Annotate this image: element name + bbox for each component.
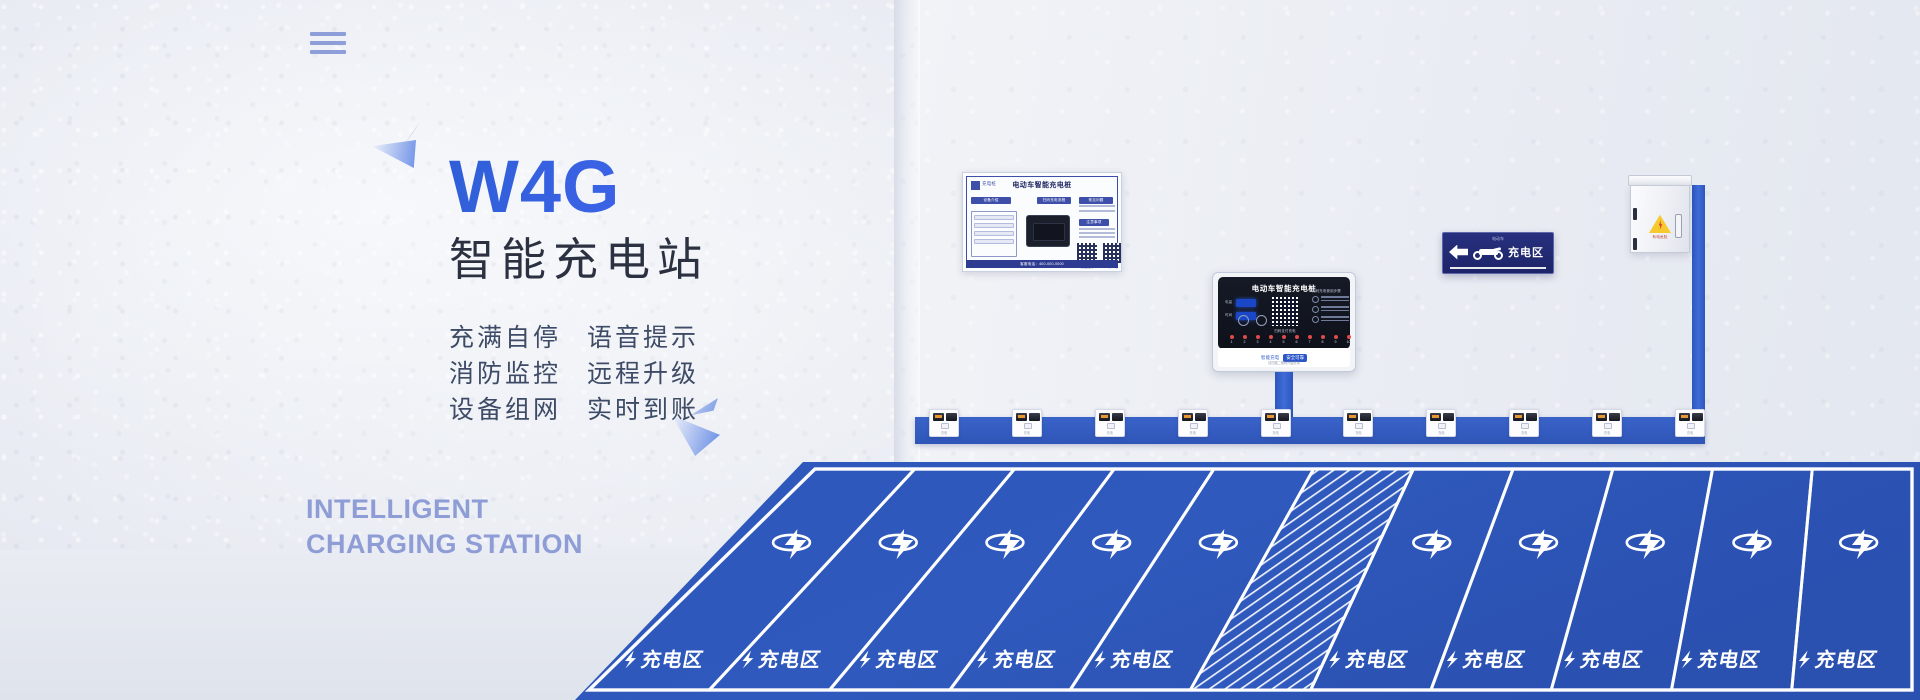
- bay-label: 充电区: [1696, 648, 1763, 672]
- power-socket[interactable]: 充电: [1095, 409, 1125, 437]
- socket-plug-right: [1360, 413, 1371, 421]
- charging-pile-device[interactable]: 电动车智能充电桩 电量 时间 扫码支付充电 扫码充电使用步骤: [1212, 272, 1356, 372]
- charging-plug-icon: [1413, 529, 1450, 559]
- right-wall-texture: [918, 0, 1920, 565]
- parking-bay[interactable]: [1070, 469, 1314, 690]
- bay-label-group: 充电区: [975, 648, 1058, 672]
- power-socket[interactable]: 充电: [1261, 409, 1291, 437]
- socket-plug-left: [1265, 413, 1276, 421]
- sign-top-note: 电动车: [1443, 236, 1553, 242]
- parking-bay[interactable]: [1792, 469, 1912, 690]
- step-icon-1: [1312, 296, 1319, 303]
- socket-label: 充电: [1676, 430, 1704, 435]
- socket-label: 充电: [1096, 430, 1124, 435]
- charging-plug-icon: [987, 529, 1024, 559]
- power-socket[interactable]: 充电: [1592, 409, 1622, 437]
- sign-underline: [1450, 267, 1546, 269]
- port-number: 1: [1227, 340, 1236, 344]
- power-socket[interactable]: 充电: [1675, 409, 1705, 437]
- bay-label-group: 充电区: [1680, 648, 1763, 672]
- socket-label: 充电: [1510, 430, 1538, 435]
- poster-step: [974, 231, 1014, 236]
- port-number: 7: [1305, 340, 1314, 344]
- port-led: [1256, 335, 1260, 339]
- socket-switch[interactable]: [1604, 423, 1612, 429]
- pile-knob-1[interactable]: [1238, 315, 1249, 326]
- socket-rail: 充电充电充电充电充电充电充电充电充电充电: [915, 417, 1705, 444]
- feature-row: 设备组网 实时到账: [449, 392, 879, 428]
- hero-headline: W4G: [449, 150, 879, 224]
- charging-plug-icon: [773, 529, 810, 559]
- pile-port[interactable]: 5: [1279, 335, 1288, 344]
- bay-bolt-icon: [1797, 651, 1811, 669]
- pile-port[interactable]: 2: [1240, 335, 1249, 344]
- port-led: [1282, 335, 1286, 339]
- pile-qr-code[interactable]: [1270, 297, 1299, 326]
- pile-port[interactable]: 8: [1318, 335, 1327, 344]
- hero-banner: W4G 智能充电站 充满自停 语音提示 消防监控 远程升级 设备组网 实时到账 …: [0, 0, 1920, 700]
- power-socket[interactable]: 充电: [1178, 409, 1208, 437]
- floor-base: [0, 550, 1920, 700]
- port-number: 5: [1279, 340, 1288, 344]
- bay-bolt-icon: [624, 651, 638, 669]
- parking-bay[interactable]: [830, 469, 1115, 690]
- left-arrow-icon: [1449, 245, 1468, 260]
- scooter-icon: [1473, 245, 1503, 260]
- rail-drop-conduit: [1692, 185, 1705, 421]
- poster-note-line: [1079, 236, 1115, 238]
- step-text-3: [1321, 316, 1349, 322]
- port-number: 6: [1292, 340, 1301, 344]
- poster-title: 电动车智能充电桩: [963, 180, 1121, 190]
- charging-plug-icon: [1200, 529, 1237, 559]
- port-number: 4: [1266, 340, 1275, 344]
- menu-bar-1: [310, 32, 346, 36]
- bay-label-group: 充电区: [858, 648, 941, 672]
- port-led: [1269, 335, 1273, 339]
- poster-flow-steps: [974, 215, 1014, 247]
- power-socket[interactable]: 充电: [929, 409, 959, 437]
- socket-switch[interactable]: [1273, 423, 1281, 429]
- charging-plug-icon: [1093, 529, 1130, 559]
- bay-bolt-icon: [1093, 651, 1107, 669]
- pile-footer-brand: 智能充电 安全可靠 请扫描二维码开始充电: [1218, 348, 1350, 367]
- socket-label: 充电: [1013, 430, 1041, 435]
- pile-port[interactable]: 9: [1331, 335, 1340, 344]
- port-number: 8: [1318, 340, 1327, 344]
- bay-label-group: 充电区: [1797, 648, 1880, 672]
- socket-plug-right: [1443, 413, 1454, 421]
- bay-label: 充电区: [756, 648, 823, 672]
- socket-label: 充电: [1179, 430, 1207, 435]
- poster-footer: 客服电话：400-000-0000: [966, 260, 1118, 268]
- socket-label: 充电: [1344, 430, 1372, 435]
- poster-tag-1: 设备介绍: [971, 197, 1011, 204]
- power-socket[interactable]: 充电: [1426, 409, 1456, 437]
- cabinet-hinge-bottom: [1633, 238, 1637, 250]
- charging-plug-icon: [1627, 529, 1664, 559]
- bay-label: 充电区: [639, 648, 706, 672]
- feature-left-2: 消防监控: [449, 356, 561, 392]
- pile-port-indicators: 12345678910: [1227, 335, 1353, 344]
- hero-copy: W4G 智能充电站 充满自停 语音提示 消防监控 远程升级 设备组网 实时到账: [449, 150, 879, 429]
- step-icon-3: [1312, 316, 1319, 323]
- socket-switch[interactable]: [1107, 423, 1115, 429]
- port-led: [1334, 335, 1338, 339]
- parking-bay[interactable]: [709, 469, 1014, 690]
- poster-tag-4: 注意事项: [1079, 219, 1109, 226]
- socket-switch[interactable]: [1521, 423, 1529, 429]
- pile-port[interactable]: 3: [1253, 335, 1262, 344]
- bay-label-group: 充电区: [1093, 648, 1176, 672]
- pile-instruction-row: [1312, 306, 1354, 313]
- extinguisher-body: [1688, 509, 1712, 561]
- poster-note-line: [1079, 228, 1115, 230]
- port-led: [1243, 335, 1247, 339]
- power-socket[interactable]: 充电: [1509, 409, 1539, 437]
- bay-label: 充电区: [1578, 648, 1645, 672]
- pile-port[interactable]: 4: [1266, 335, 1275, 344]
- poster-right-textblock: [1079, 205, 1115, 214]
- step-text-1: [1321, 296, 1349, 302]
- pile-instructions: [1312, 296, 1354, 326]
- hero-subheadline: 智能充电站: [449, 234, 879, 286]
- socket-plug-right: [1029, 413, 1040, 421]
- feature-row: 消防监控 远程升级: [449, 356, 879, 392]
- port-number: 3: [1253, 340, 1262, 344]
- lot-bay-labels: 充电区充电区充电区充电区充电区充电区充电区充电区充电区充电区: [623, 648, 1880, 672]
- bay-bolt-icon: [1445, 651, 1459, 669]
- wall-poster[interactable]: 充电桩 电动车智能充电桩 设备介绍 扫码充电流程 常见问题 注意事项 微信扫码 …: [962, 172, 1122, 272]
- bay-bolt-icon: [1680, 651, 1694, 669]
- parking-bay[interactable]: [589, 469, 915, 690]
- right-wall: [918, 0, 1920, 565]
- poster-note-line: [1079, 232, 1115, 234]
- extinguisher-label: 灭火器: [1688, 536, 1712, 541]
- cabinet-handle[interactable]: [1675, 214, 1682, 238]
- port-number: 9: [1331, 340, 1340, 344]
- cabinet-body: 有电危险: [1630, 185, 1690, 253]
- socket-plug-left: [1430, 413, 1441, 421]
- socket-plug-left: [1679, 413, 1690, 421]
- poster-tag-3: 常见问题: [1079, 197, 1113, 204]
- wall-texture: [0, 0, 1920, 700]
- lightning-bolt-icon: [1658, 220, 1663, 230]
- poster-right-notes: [1079, 228, 1115, 240]
- port-led: [1230, 335, 1234, 339]
- pile-instructions-header: 扫码充电使用步骤: [1312, 289, 1341, 294]
- bay-label-group: 充电区: [1562, 648, 1645, 672]
- socket-plug-right: [1278, 413, 1289, 421]
- bay-label-group: 充电区: [1445, 648, 1528, 672]
- bay-label: 充电区: [1461, 648, 1528, 672]
- hamburger-menu-icon[interactable]: [310, 32, 346, 56]
- socket-label: 充电: [1593, 430, 1621, 435]
- port-number: 10: [1344, 340, 1353, 344]
- socket-switch[interactable]: [941, 423, 949, 429]
- socket-plug-right: [1195, 413, 1206, 421]
- socket-label: 充电: [1262, 430, 1290, 435]
- extinguisher-band-green: [1688, 545, 1712, 549]
- direction-sign[interactable]: 电动车 充电区: [1442, 232, 1554, 274]
- bay-label-group: 充电区: [740, 648, 823, 672]
- feature-row: 充满自停 语音提示: [449, 320, 879, 356]
- step-icon-2: [1312, 306, 1319, 313]
- socket-plug-left: [1596, 413, 1607, 421]
- socket-plug-right: [1112, 413, 1123, 421]
- pile-lcd-top: [1236, 299, 1256, 307]
- sign-content: 充电区: [1449, 244, 1547, 260]
- bay-label: 充电区: [874, 648, 941, 672]
- charging-plug-icon: [880, 529, 917, 559]
- poster-device-image: [1026, 215, 1070, 247]
- bay-bolt-icon: [1563, 651, 1577, 669]
- lot-aisle-hatch: [1190, 469, 1413, 690]
- parking-bay[interactable]: [1431, 469, 1613, 690]
- parking-bay[interactable]: [950, 469, 1214, 690]
- socket-switch[interactable]: [1190, 423, 1198, 429]
- feature-right-2: 远程升级: [587, 356, 699, 392]
- feature-list: 充满自停 语音提示 消防监控 远程升级 设备组网 实时到账: [449, 320, 879, 429]
- step-text-2: [1321, 306, 1349, 312]
- port-led: [1295, 335, 1299, 339]
- bay-bolt-icon: [858, 651, 872, 669]
- pile-knob-2[interactable]: [1256, 315, 1267, 326]
- feature-left-3: 设备组网: [449, 392, 561, 428]
- pile-lcd-label-bottom: 时间: [1225, 313, 1232, 318]
- sign-label: 充电区: [1508, 244, 1544, 260]
- socket-plug-left: [933, 413, 944, 421]
- socket-plug-left: [1513, 413, 1524, 421]
- socket-plug-left: [1099, 413, 1110, 421]
- menu-bar-3: [310, 50, 346, 54]
- socket-plug-left: [1347, 413, 1358, 421]
- socket-switch[interactable]: [1438, 423, 1446, 429]
- pile-lcd-label-top: 电量: [1225, 300, 1232, 305]
- poster-step: [974, 239, 1014, 244]
- pile-qr-caption: 扫码支付充电: [1266, 328, 1304, 333]
- pile-foot-note: 请扫描二维码开始充电: [1218, 360, 1350, 365]
- feature-right-3: 实时到账: [587, 392, 699, 428]
- fire-extinguisher[interactable]: 灭火器: [1688, 493, 1712, 561]
- power-socket[interactable]: 充电: [1012, 409, 1042, 437]
- menu-bar-2: [310, 41, 346, 45]
- socket-label: 充电: [930, 430, 958, 435]
- cabinet-hinge-top: [1633, 208, 1637, 220]
- background-vignette: [0, 0, 1920, 700]
- bay-label: 充电区: [1813, 648, 1880, 672]
- charging-plug-icon: [1734, 529, 1771, 559]
- poster-text-line: [1079, 210, 1115, 212]
- electrical-cabinet[interactable]: 有电危险: [1630, 175, 1690, 253]
- high-voltage-warning-icon: [1649, 214, 1671, 233]
- pile-port[interactable]: 6: [1292, 335, 1301, 344]
- pile-port[interactable]: 10: [1344, 335, 1353, 344]
- bay-label-group: 充电区: [623, 648, 706, 672]
- socket-plug-left: [1016, 413, 1027, 421]
- pile-port[interactable]: 7: [1305, 335, 1314, 344]
- socket-switch[interactable]: [1687, 423, 1695, 429]
- pile-port[interactable]: 1: [1227, 335, 1236, 344]
- poster-device-screen: [1033, 223, 1065, 241]
- socket-switch[interactable]: [1024, 423, 1032, 429]
- english-line-2: CHARGING STATION: [306, 527, 583, 562]
- english-tagline: INTELLIGENT CHARGING STATION: [306, 492, 583, 561]
- poster-step: [974, 223, 1014, 228]
- socket-plug-left: [1182, 413, 1193, 421]
- socket-plug-right: [1692, 413, 1703, 421]
- decorative-triangle-2: [372, 140, 416, 168]
- port-number: 2: [1240, 340, 1249, 344]
- bay-label: 充电区: [1343, 648, 1410, 672]
- power-socket[interactable]: 充电: [1343, 409, 1373, 437]
- feature-left-1: 充满自停: [449, 320, 561, 356]
- bay-bolt-icon: [1328, 651, 1342, 669]
- charging-plug-icon: [1520, 529, 1557, 559]
- pile-panel: 电动车智能充电桩 电量 时间 扫码支付充电 扫码充电使用步骤: [1218, 277, 1350, 349]
- wall-corner-edge: [894, 0, 920, 560]
- socket-label: 充电: [1427, 430, 1455, 435]
- poster-step: [974, 215, 1014, 220]
- extinguisher-band-bottom: [1688, 567, 1712, 573]
- pile-instruction-row: [1312, 316, 1354, 323]
- socket-plug-right: [946, 413, 957, 421]
- socket-switch[interactable]: [1355, 423, 1363, 429]
- bay-label: 充电区: [1109, 648, 1176, 672]
- english-line-1: INTELLIGENT: [306, 492, 583, 527]
- port-led: [1308, 335, 1312, 339]
- parking-bay[interactable]: [1311, 469, 1513, 690]
- port-led: [1347, 335, 1351, 339]
- cabinet-warning-label: 有电危险: [1644, 235, 1676, 240]
- pile-instruction-row: [1312, 296, 1354, 303]
- charging-plug-icon: [1840, 529, 1877, 559]
- poster-text-line: [1079, 205, 1115, 207]
- bay-label-group: 充电区: [1327, 648, 1410, 672]
- bay-bolt-icon: [741, 651, 755, 669]
- bay-bolt-icon: [976, 651, 990, 669]
- poster-tag-2: 扫码充电流程: [1037, 197, 1071, 204]
- port-led: [1321, 335, 1325, 339]
- decorative-triangle-1: [394, 122, 420, 148]
- bay-label: 充电区: [991, 648, 1058, 672]
- socket-plug-right: [1609, 413, 1620, 421]
- feature-right-1: 语音提示: [587, 320, 699, 356]
- socket-plug-right: [1526, 413, 1537, 421]
